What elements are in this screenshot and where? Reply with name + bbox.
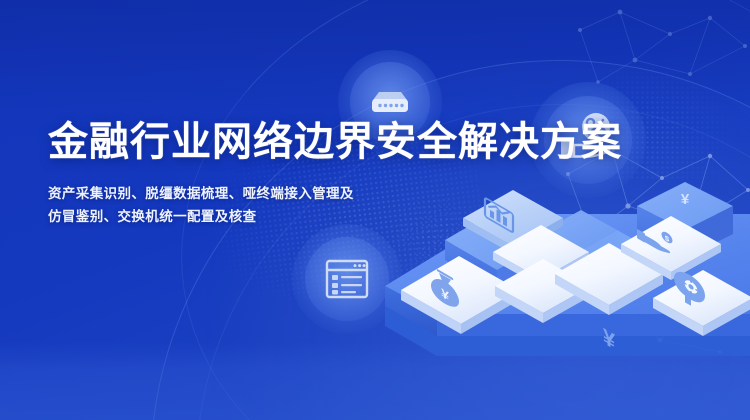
- page-subtitle-line-1: 资产采集识别、脱缰数据梳理、哑终端接入管理及: [48, 182, 518, 205]
- router-icon: [367, 86, 413, 118]
- banner-root: ¥ ¥: [0, 0, 750, 420]
- yen-block-icon: ¥: [681, 191, 690, 208]
- page-title: 金融行业网络边界安全解决方案: [48, 120, 518, 164]
- headline-block: 金融行业网络边界安全解决方案 资产采集识别、脱缰数据梳理、哑终端接入管理及 仿冒…: [48, 120, 518, 228]
- document-list-icon: [324, 258, 370, 300]
- page-subtitle: 资产采集识别、脱缰数据梳理、哑终端接入管理及 仿冒鉴别、交换机统一配置及核查: [48, 182, 518, 228]
- page-subtitle-line-2: 仿冒鉴别、交换机统一配置及核查: [48, 205, 518, 228]
